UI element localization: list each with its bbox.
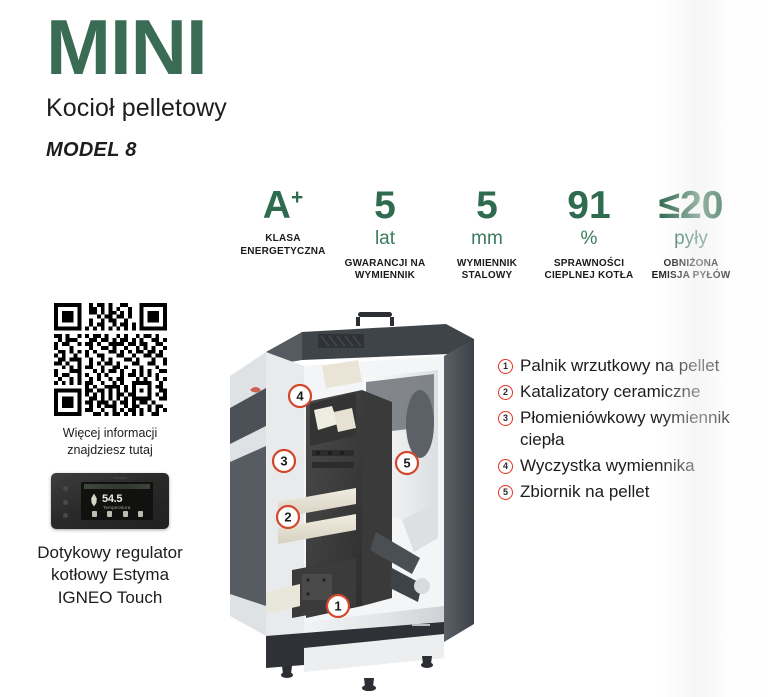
ceramic-wedge-b [334, 408, 356, 432]
stat-value: A+ [232, 186, 334, 226]
controller-temperature-value: 54.5 [102, 493, 122, 505]
controller-settings-icon [138, 511, 143, 517]
controller-pump-icon [123, 511, 128, 517]
stat-unit: mm [436, 227, 538, 251]
feature-legend-list: 1 Palnik wrzutkowy na pellet 2 Katalizat… [498, 355, 766, 507]
base-label [412, 624, 430, 626]
stat-value: 91 [538, 186, 640, 226]
stat-label: SPRAWNOŚCICIEPLNEJ KOTŁA [538, 258, 640, 284]
legend-item-label: Katalizatory ceramiczne [520, 381, 700, 403]
controller-led-icon [113, 477, 127, 479]
boiler-left-band-lower [230, 446, 266, 606]
controller-fan-icon [107, 511, 112, 517]
boiler-handle-icon [358, 312, 392, 317]
auger-end-cap [414, 578, 430, 594]
controller-menu-icon [92, 511, 97, 517]
legend-item-label: Płomieniówkowy wymiennik ciepła [520, 407, 766, 452]
stat-unit: % [538, 227, 640, 251]
stat-value: 5 [334, 186, 436, 226]
legend-number-badge: 4 [498, 459, 513, 474]
flame-icon [90, 494, 98, 507]
page-title: MINI [46, 8, 227, 86]
stat-label: KLASAENERGETYCZNA [232, 233, 334, 259]
controller-button-icon [63, 500, 68, 505]
burner-bolt-icon [306, 592, 309, 595]
boiler-right-panel [444, 339, 474, 642]
controller-icon-row [87, 511, 148, 517]
stat-dust-emission: ≤20 pyły OBNIŻONAEMISJA PYŁÓW [640, 186, 742, 283]
controller-statusbar [84, 484, 150, 489]
controller-device-image: 54.5 Temperatura [51, 473, 169, 529]
page-fold-shading [658, 0, 778, 697]
stat-unit: lat [334, 227, 436, 251]
stat-value: 5 [436, 186, 538, 226]
stat-label: WYMIENNIKSTALOWY [436, 258, 538, 284]
burner-bolt-icon [306, 578, 309, 581]
product-model: MODEL 8 [46, 139, 227, 162]
stat-label: GWARANCJI NAWYMIENNIK [334, 258, 436, 284]
list-item: 1 Palnik wrzutkowy na pellet [498, 355, 766, 377]
qr-code-wrapper [12, 303, 208, 416]
qr-code-icon[interactable] [54, 303, 167, 416]
burner-grate [302, 574, 332, 600]
legend-item-label: Wyczystka wymiennika [520, 455, 695, 477]
burner-bolt-icon [322, 578, 325, 581]
legend-item-label: Palnik wrzutkowy na pellet [520, 355, 719, 377]
legend-number-badge: 1 [498, 359, 513, 374]
boiler-handle-legs [358, 317, 392, 326]
left-info-column: Więcej informacjiznajdziesz tutaj 54.5 T… [12, 303, 208, 609]
controller-screen: 54.5 Temperatura [81, 482, 153, 520]
controller-temperature-label: Temperatura [103, 505, 130, 510]
controller-button-icon [63, 513, 68, 518]
boiler-illustration: 4 3 5 2 1 [206, 306, 496, 691]
controller-caption: Dotykowy regulatorkotłowy EstymaIGNEO To… [12, 542, 208, 610]
stat-energy-class: A+ KLASAENERGETYCZNA [232, 186, 334, 258]
product-subtitle: Kocioł pelletowy [46, 94, 227, 123]
stat-efficiency: 91 % SPRAWNOŚCICIEPLNEJ KOTŁA [538, 186, 640, 283]
stat-label: OBNIŻONAEMISJA PYŁÓW [640, 258, 742, 284]
stat-superscript: + [291, 186, 303, 209]
stat-warranty: 5 lat GWARANCJI NAWYMIENNIK [334, 186, 436, 283]
legend-item-label: Zbiornik na pellet [520, 481, 649, 503]
stats-strip: A+ KLASAENERGETYCZNA 5 lat GWARANCJI NAW… [232, 186, 742, 283]
legend-number-badge: 5 [498, 485, 513, 500]
boiler-cutaway-image: 4 3 5 2 1 [206, 306, 496, 691]
list-item: 3 Płomieniówkowy wymiennik ciepła [498, 407, 766, 452]
stat-exchanger-thickness: 5 mm WYMIENNIKSTALOWY [436, 186, 538, 283]
boiler-vent-grille [318, 334, 364, 348]
legend-number-badge: 2 [498, 385, 513, 400]
list-item: 5 Zbiornik na pellet [498, 481, 766, 503]
header-block: MINI Kocioł pelletowy MODEL 8 [46, 8, 227, 162]
list-item: 4 Wyczystka wymiennika [498, 455, 766, 477]
legend-number-badge: 3 [498, 411, 513, 426]
controller-button-icon [63, 486, 68, 491]
exchanger-drum [406, 390, 434, 458]
stat-value: ≤20 [640, 186, 742, 226]
stat-unit: pyły [640, 227, 742, 251]
list-item: 2 Katalizatory ceramiczne [498, 381, 766, 403]
chamber-right-wall [362, 390, 392, 606]
qr-caption: Więcej informacjiznajdziesz tutaj [12, 425, 208, 460]
